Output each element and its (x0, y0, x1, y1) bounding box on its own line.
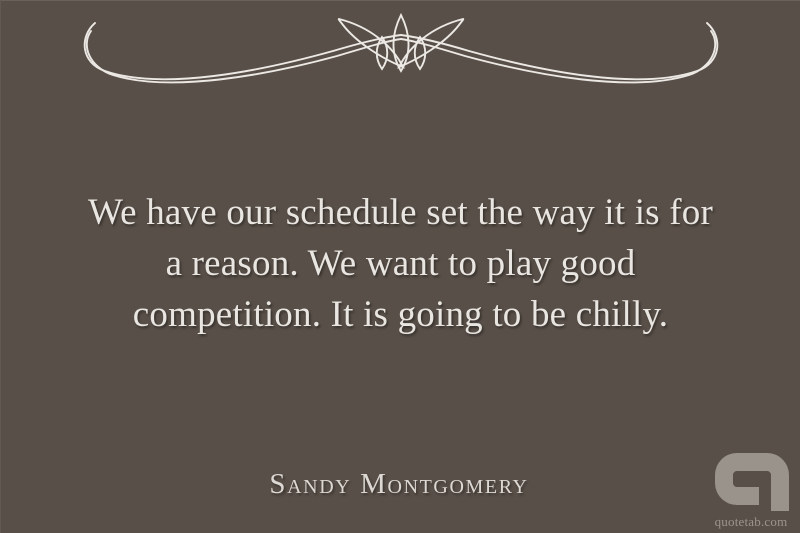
quote-line: We have our schedule set the way it is f… (35, 187, 766, 238)
quote-card: We have our schedule set the way it is f… (0, 0, 800, 533)
watermark-site-label[interactable]: quotetab.com (704, 514, 800, 529)
watermark[interactable]: quotetab.com (704, 453, 800, 529)
quote-text: We have our schedule set the way it is f… (1, 187, 800, 340)
flourish-divider-ornament (71, 9, 731, 89)
quote-author: Sandy Montgomery (1, 467, 800, 501)
quotetab-q-logo-icon[interactable] (715, 453, 789, 513)
quote-line: a reason. We want to play good (35, 238, 766, 289)
quote-line: competition. It is going to be chilly. (35, 289, 766, 340)
